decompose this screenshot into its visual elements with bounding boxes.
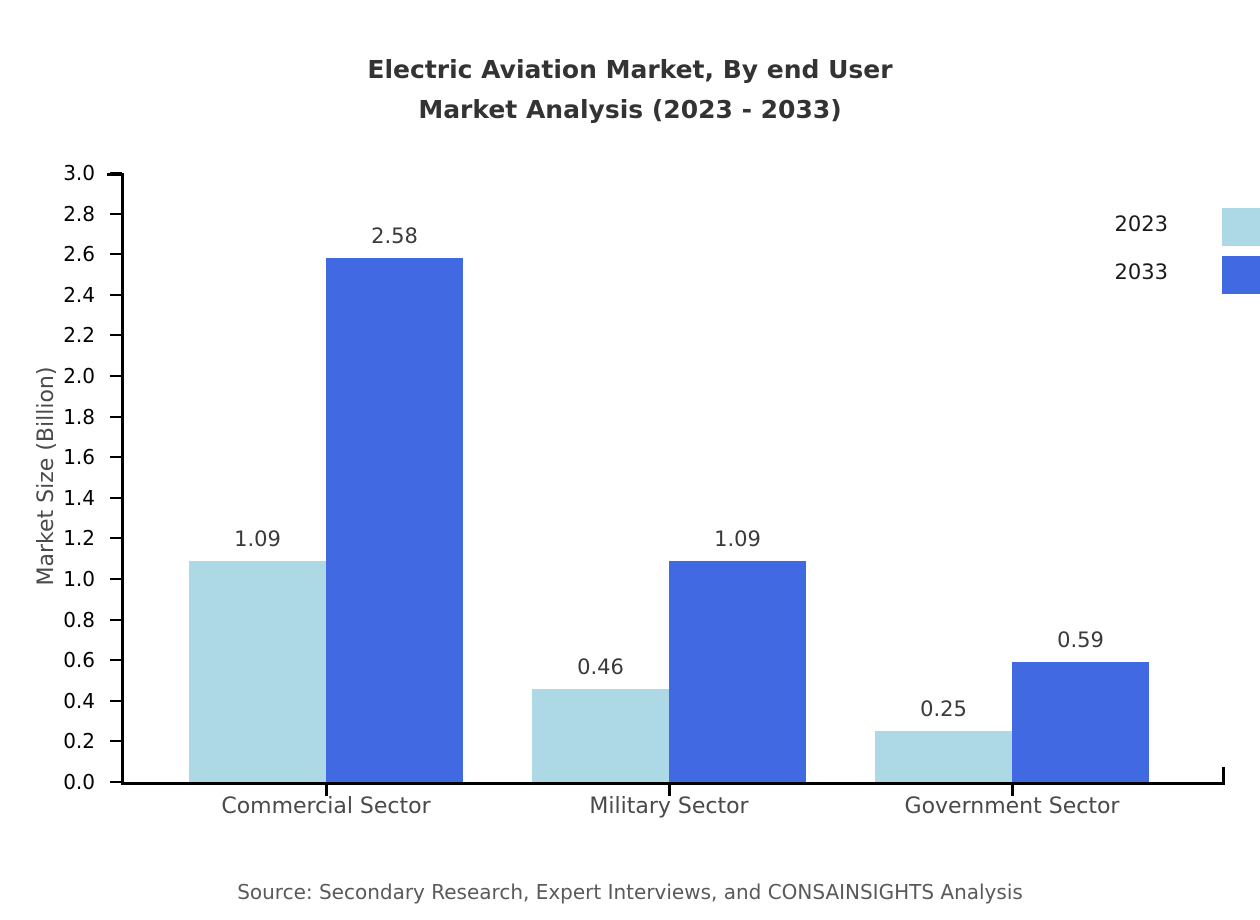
bar-value-label: 2.58 bbox=[325, 226, 465, 247]
y-axis-tick-label: 0.0 bbox=[15, 772, 95, 792]
bar-value-label: 0.46 bbox=[531, 657, 671, 678]
legend-swatch-2033 bbox=[1222, 256, 1260, 294]
legend-swatch-2023 bbox=[1222, 208, 1260, 246]
chart-title: Electric Aviation Market, By end User Ma… bbox=[0, 50, 1260, 130]
bar-value-label: 1.09 bbox=[188, 529, 328, 550]
bar-military-sector-2023[interactable] bbox=[532, 689, 669, 782]
legend-label-2023: 2023 bbox=[1078, 214, 1168, 235]
bar-government-sector-2023[interactable] bbox=[875, 731, 1012, 782]
x-axis-line bbox=[121, 782, 1225, 785]
bar-commercial-sector-2023[interactable] bbox=[189, 561, 326, 782]
bar-value-label: 1.09 bbox=[668, 529, 808, 550]
plot-area: 1.092.580.461.090.250.59 bbox=[121, 173, 1222, 782]
bar-government-sector-2033[interactable] bbox=[1012, 662, 1149, 782]
bar-commercial-sector-2033[interactable] bbox=[326, 258, 463, 782]
x-axis-tick-label-commercial-sector: Commercial Sector bbox=[166, 792, 486, 822]
legend-item-2033[interactable]: 2033 bbox=[1130, 260, 1260, 300]
bar-value-label: 0.59 bbox=[1011, 630, 1151, 651]
bar-military-sector-2033[interactable] bbox=[669, 561, 806, 782]
x-axis-tick-label-military-sector: Military Sector bbox=[509, 792, 829, 822]
source-note: Source: Secondary Research, Expert Inter… bbox=[0, 878, 1260, 906]
chart-figure: Electric Aviation Market, By end User Ma… bbox=[0, 0, 1260, 920]
bar-value-label: 0.25 bbox=[874, 699, 1014, 720]
y-axis-label: Market Size (Billion) bbox=[36, 216, 58, 736]
chart-title-line-2: Market Analysis (2023 - 2033) bbox=[0, 90, 1260, 130]
chart-legend: 20232033 bbox=[1130, 212, 1260, 302]
legend-item-2023[interactable]: 2023 bbox=[1130, 212, 1260, 252]
y-axis-tick-label: 3.0 bbox=[15, 163, 95, 183]
x-axis-end-cap bbox=[1222, 767, 1225, 785]
x-axis-tick-label-government-sector: Government Sector bbox=[852, 792, 1172, 822]
legend-label-2033: 2033 bbox=[1078, 262, 1168, 283]
chart-title-line-1: Electric Aviation Market, By end User bbox=[0, 50, 1260, 90]
